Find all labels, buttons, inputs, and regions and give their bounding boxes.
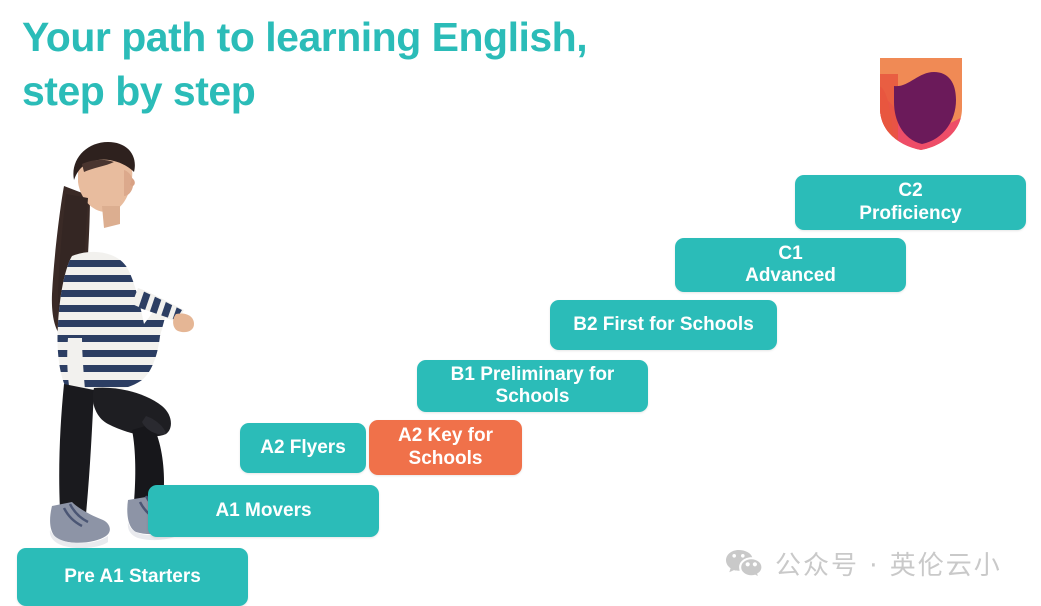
step-label: B1 Preliminary for Schools xyxy=(427,364,638,408)
step-box-c2-proficiency[interactable]: C2 Proficiency xyxy=(795,175,1026,230)
step-box-a2-key-for-schools[interactable]: A2 Key for Schools xyxy=(369,420,522,475)
page-title: Your path to learning English, step by s… xyxy=(22,10,587,118)
step-label: A1 Movers xyxy=(215,500,311,522)
step-label: C1 Advanced xyxy=(745,243,836,287)
step-box-a2-flyers[interactable]: A2 Flyers xyxy=(240,423,366,473)
step-label: B2 First for Schools xyxy=(573,314,754,336)
step-box-c1-advanced[interactable]: C1 Advanced xyxy=(675,238,906,292)
wechat-watermark: 公众号 · 英伦云小 xyxy=(725,545,1002,582)
step-label: A2 Key for Schools xyxy=(379,425,512,469)
step-box-a1-movers[interactable]: A1 Movers xyxy=(148,485,379,537)
slide-canvas: Your path to learning English, step by s… xyxy=(0,0,1041,606)
step-label: A2 Flyers xyxy=(260,437,346,459)
step-box-b2-first-for-schools[interactable]: B2 First for Schools xyxy=(550,300,777,350)
step-box-b1-preliminary[interactable]: B1 Preliminary for Schools xyxy=(417,360,648,412)
watermark-text: 公众号 · 英伦云小 xyxy=(775,545,1002,582)
step-label: C2 Proficiency xyxy=(859,180,961,224)
step-label: Pre A1 Starters xyxy=(64,566,201,588)
cambridge-shield-logo xyxy=(878,56,964,152)
step-box-pre-a1-starters[interactable]: Pre A1 Starters xyxy=(17,548,248,606)
wechat-icon xyxy=(725,548,763,580)
